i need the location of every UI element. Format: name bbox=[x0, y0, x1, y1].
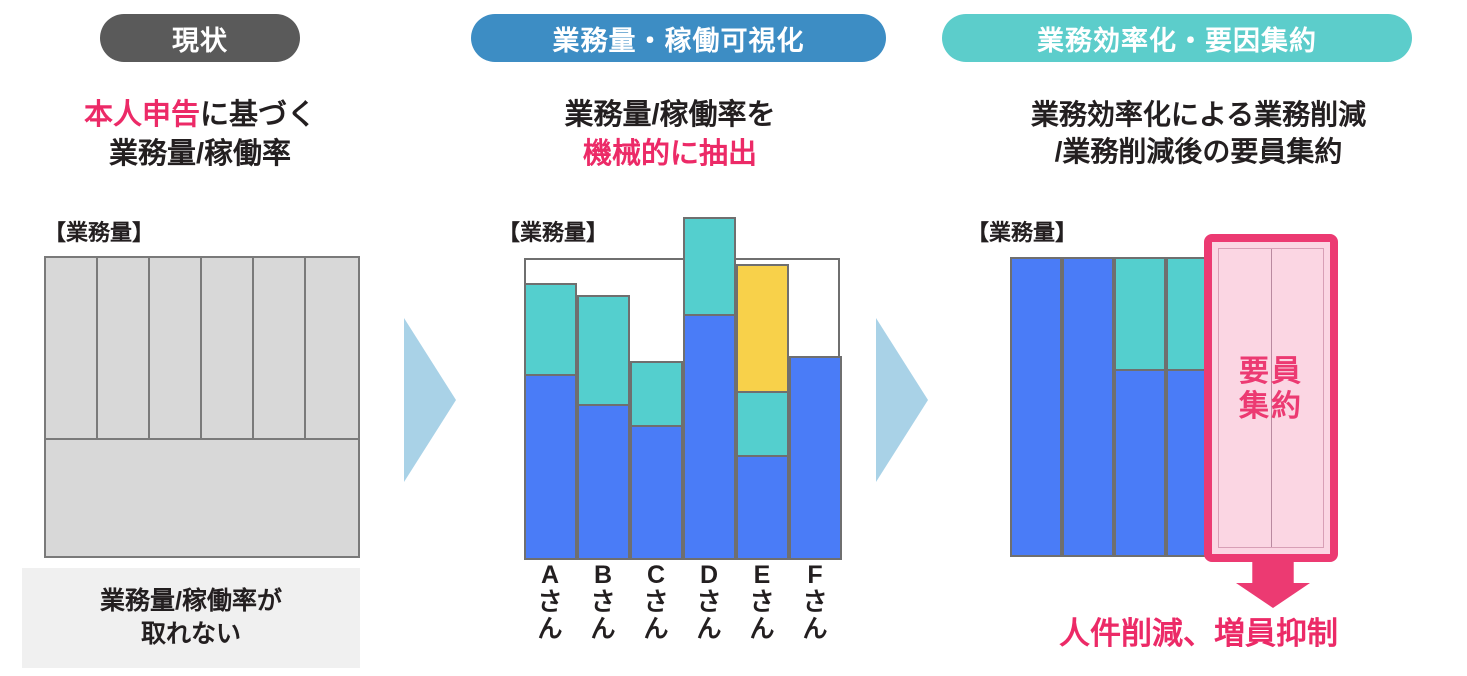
column-3-blue bbox=[1116, 371, 1164, 555]
bar-d bbox=[683, 217, 736, 558]
panel-current-pill: 現状 bbox=[100, 14, 300, 62]
bar-b bbox=[577, 295, 630, 558]
panel-efficiency-note: 人件削減、増員抑制 bbox=[930, 608, 1467, 653]
bar-c bbox=[630, 361, 683, 558]
bar-a-segment-blue bbox=[524, 374, 577, 560]
bar-e-segment-teal bbox=[736, 391, 789, 457]
aggregate-label: 要員 集約 bbox=[1219, 355, 1323, 425]
bar-e-segment-yellow bbox=[736, 264, 789, 393]
note-line-2: 取れない bbox=[100, 618, 282, 651]
subtitle-rest: に基づく bbox=[200, 99, 316, 131]
aggregate-highlight-box: 要員 集約 bbox=[1204, 234, 1338, 562]
chart-horizontal-divider bbox=[46, 438, 358, 440]
column-1-blue bbox=[1012, 259, 1060, 555]
chart-divider-2 bbox=[148, 258, 150, 440]
bar-d-segment-teal bbox=[683, 217, 736, 316]
visualized-workload-chart bbox=[524, 258, 840, 558]
aggregate-label-line2: 集約 bbox=[1219, 390, 1323, 425]
column-2-blue bbox=[1064, 259, 1112, 555]
chart-divider-5 bbox=[304, 258, 306, 440]
subtitle-line1: 業務効率化による業務削減 bbox=[930, 96, 1467, 133]
panel-current-note: 業務量/稼働率が 取れない bbox=[22, 568, 360, 668]
panel-current: 現状 本人申告に基づく 業務量/稼働率 【業務量】 業務量/稼働率が 取れない bbox=[0, 0, 400, 676]
bar-f-segment-blue bbox=[789, 356, 842, 560]
bar-b-segment-teal bbox=[577, 295, 630, 406]
column-1 bbox=[1010, 257, 1062, 557]
bar-e-segment-blue bbox=[736, 455, 789, 560]
current-workload-chart bbox=[44, 256, 360, 558]
bar-e bbox=[736, 264, 789, 558]
x-label-e: Eさん bbox=[736, 562, 788, 642]
flow-arrow-1-icon bbox=[404, 318, 456, 482]
chart-divider-1 bbox=[96, 258, 98, 440]
aggregate-label-line1: 要員 bbox=[1219, 355, 1323, 390]
panel-visualize: 業務量・稼働可視化 業務量/稼働率を 機械的に抽出 【業務量】 bbox=[460, 0, 880, 676]
x-label-f: Fさん bbox=[789, 562, 841, 642]
column-2 bbox=[1062, 257, 1114, 557]
panel-current-subtitle: 本人申告に基づく 業務量/稼働率 bbox=[0, 96, 400, 173]
bar-b-segment-blue bbox=[577, 404, 630, 560]
column-3-teal bbox=[1116, 259, 1164, 371]
panel-efficiency: 業務効率化・要因集約 業務効率化による業務削減 /業務削減後の要員集約 【業務量… bbox=[930, 0, 1467, 676]
chart-divider-4 bbox=[252, 258, 254, 440]
bar-a-segment-teal bbox=[524, 283, 577, 376]
subtitle-line1: 業務量/稼働率を bbox=[460, 96, 880, 135]
x-label-c: Cさん bbox=[630, 562, 682, 642]
panel-visualize-pill: 業務量・稼働可視化 bbox=[471, 14, 886, 62]
chart-divider-3 bbox=[200, 258, 202, 440]
aggregate-box-inner: 要員 集約 bbox=[1218, 248, 1324, 548]
flow-arrow-2-icon bbox=[876, 318, 928, 482]
subtitle-line2: /業務削減後の要員集約 bbox=[930, 133, 1467, 170]
x-label-d: Dさん bbox=[683, 562, 735, 642]
panel-current-chart-caption: 【業務量】 bbox=[44, 215, 154, 247]
bar-f bbox=[789, 356, 842, 558]
bar-a bbox=[524, 283, 577, 558]
subtitle-line2-highlight: 機械的に抽出 bbox=[460, 135, 880, 174]
subtitle-line2: 業務量/稼働率 bbox=[0, 135, 400, 174]
bar-c-segment-blue bbox=[630, 425, 683, 560]
panel-efficiency-chart-caption: 【業務量】 bbox=[967, 215, 1077, 247]
x-label-a: Aさん bbox=[524, 562, 576, 642]
panel-efficiency-subtitle: 業務効率化による業務削減 /業務削減後の要員集約 bbox=[930, 96, 1467, 170]
bar-c-segment-teal bbox=[630, 361, 683, 427]
down-arrow-icon bbox=[1236, 556, 1310, 608]
note-line-1: 業務量/稼働率が bbox=[100, 585, 282, 618]
column-3 bbox=[1114, 257, 1166, 557]
bar-d-segment-blue bbox=[683, 314, 736, 560]
chart-bars bbox=[524, 212, 840, 558]
visualized-chart-x-labels: Aさん Bさん Cさん Dさん Eさん Fさん bbox=[524, 562, 840, 674]
panel-visualize-subtitle: 業務量/稼働率を 機械的に抽出 bbox=[460, 96, 880, 173]
panel-efficiency-pill: 業務効率化・要因集約 bbox=[942, 14, 1412, 62]
x-label-b: Bさん bbox=[577, 562, 629, 642]
subtitle-highlight: 本人申告 bbox=[84, 99, 200, 131]
